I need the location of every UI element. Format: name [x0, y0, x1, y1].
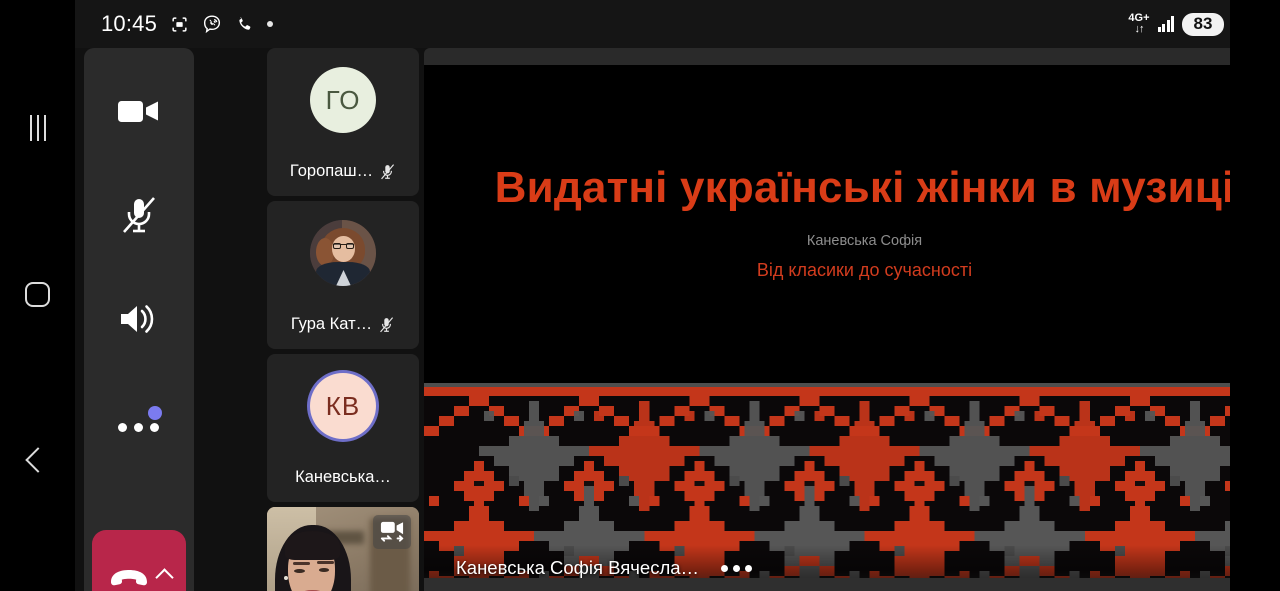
- presenter-more-button[interactable]: [721, 565, 752, 572]
- avatar: ГО: [310, 67, 376, 133]
- mic-muted-badge-icon: [379, 163, 396, 181]
- slide-title: Видатні українські жінки в музиці: [464, 161, 1265, 215]
- slide-author: Каневська Софія: [464, 233, 1265, 249]
- mic-muted-badge-icon: [378, 316, 395, 334]
- chevron-left-icon: [25, 447, 50, 472]
- participant-name: Каневська…: [295, 468, 391, 487]
- participants-filmstrip[interactable]: ГО Горопаш…: [267, 48, 419, 591]
- hang-up-icon: [108, 567, 150, 589]
- slide-text-block: Видатні українські жінки в музиці Каневс…: [424, 161, 1280, 281]
- network-arrows-label: ↓↑: [1134, 24, 1143, 35]
- call-controls-panel: [84, 48, 194, 591]
- participant-label: Горопаш…: [267, 162, 419, 181]
- toggle-microphone-button[interactable]: [84, 178, 194, 252]
- phone-screen: 10:45: [0, 0, 1280, 591]
- app-surface: 10:45: [75, 0, 1280, 591]
- pattern-top-stripe: [424, 387, 1280, 396]
- speaker-icon: [117, 302, 161, 336]
- participant-tile[interactable]: КВ Каневська…: [267, 354, 419, 502]
- nav-recents-button[interactable]: [0, 98, 75, 158]
- home-icon: [25, 282, 50, 307]
- toggle-camera-button[interactable]: [84, 74, 194, 148]
- status-bar-left: 10:45: [101, 11, 273, 37]
- more-options-button[interactable]: [84, 386, 194, 460]
- recents-icon: [30, 115, 46, 141]
- participant-label: Каневська…: [267, 468, 419, 487]
- right-screen-edge: [1230, 0, 1280, 591]
- participant-label: Гура Кат…: [267, 315, 419, 334]
- stage-bottom-strip: [424, 578, 1280, 591]
- slide-subtitle: Від класики до сучасності: [464, 260, 1265, 281]
- avatar: КВ: [310, 373, 376, 439]
- phone-call-icon: [235, 15, 254, 34]
- microphone-muted-icon: [119, 193, 159, 237]
- screenshot-icon: [170, 15, 189, 34]
- video-camera-icon: [116, 95, 162, 127]
- stage-top-bar: [424, 48, 1280, 65]
- nav-back-button[interactable]: [0, 430, 75, 490]
- battery-level-badge: 83: [1182, 13, 1224, 36]
- toggle-speaker-button[interactable]: [84, 282, 194, 356]
- status-clock: 10:45: [101, 11, 157, 37]
- camera-switch-icon: [379, 520, 405, 544]
- participant-name: Гура Кат…: [291, 315, 372, 334]
- avatar-photo-image: [310, 220, 376, 286]
- participant-tile[interactable]: Гура Кат…: [267, 201, 419, 349]
- self-view-tile[interactable]: [267, 507, 419, 591]
- switch-camera-button[interactable]: [373, 515, 411, 549]
- nav-home-button[interactable]: [0, 264, 75, 324]
- shared-screen-stage[interactable]: Видатні українські жінки в музиці Каневс…: [424, 48, 1280, 591]
- notification-dot-icon: [267, 21, 273, 27]
- participant-tile[interactable]: ГО Горопаш…: [267, 48, 419, 196]
- notification-badge: [148, 406, 162, 420]
- avatar-initials: КВ: [326, 391, 361, 422]
- avatar: [310, 220, 376, 286]
- signal-strength-icon: [1158, 16, 1175, 32]
- presenter-name: Каневська Софія Вячесла…: [456, 557, 699, 579]
- expand-chevron-up-icon[interactable]: [155, 568, 173, 586]
- status-bar: 10:45: [75, 0, 1280, 48]
- participant-name: Горопаш…: [290, 162, 373, 181]
- viber-icon: [202, 14, 222, 34]
- android-nav-rail: [0, 0, 75, 591]
- avatar-initials: ГО: [326, 85, 361, 116]
- more-dots-icon: [114, 406, 164, 440]
- network-type-indicator: 4G+ ↓↑: [1128, 13, 1149, 35]
- end-call-button[interactable]: [92, 530, 186, 591]
- presentation-slide: Видатні українські жінки в музиці Каневс…: [424, 65, 1280, 591]
